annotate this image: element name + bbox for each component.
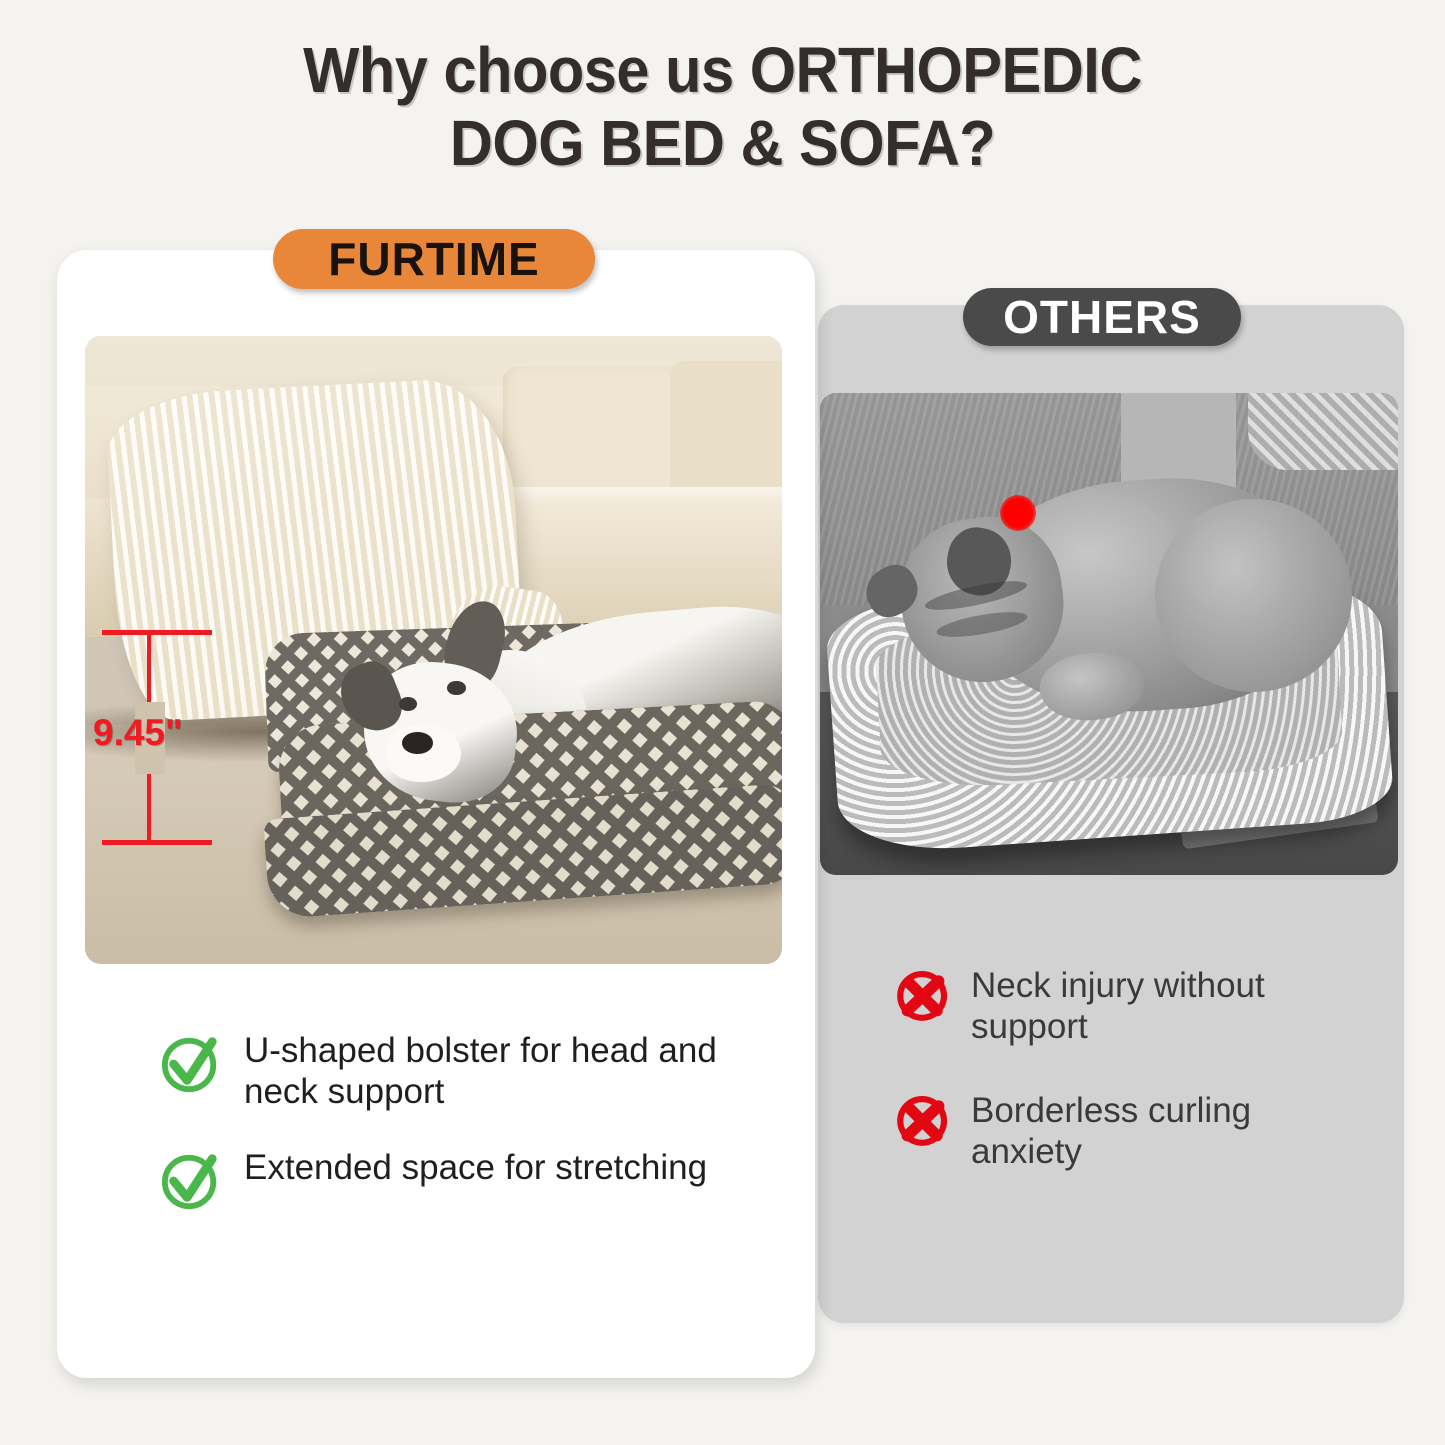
list-item-label: Neck injury without support bbox=[971, 965, 1365, 1048]
list-item: Borderless curling anxiety bbox=[895, 1090, 1365, 1173]
others-drawbacks-list: Neck injury without support Borderless c… bbox=[895, 965, 1365, 1214]
red-x-icon bbox=[895, 1092, 951, 1148]
list-item-label: Extended space for stretching bbox=[244, 1147, 707, 1188]
others-flat-dog-bed-photo bbox=[820, 393, 1398, 875]
list-item: Extended space for stretching bbox=[160, 1147, 780, 1211]
others-panel: Neck injury without support Borderless c… bbox=[818, 305, 1404, 1323]
others-badge: OTHERS bbox=[963, 288, 1241, 346]
list-item: Neck injury without support bbox=[895, 965, 1365, 1048]
neck-pain-marker-dot bbox=[1000, 495, 1036, 531]
page-title: Why choose us ORTHOPEDIC DOG BED & SOFA? bbox=[51, 34, 1395, 180]
red-x-icon bbox=[895, 967, 951, 1023]
list-item: U-shaped bolster for head and neck suppo… bbox=[160, 1030, 780, 1113]
furtime-badge: FURTIME bbox=[273, 229, 595, 289]
green-check-icon bbox=[160, 1032, 222, 1094]
green-check-icon bbox=[160, 1149, 222, 1211]
list-item-label: U-shaped bolster for head and neck suppo… bbox=[244, 1030, 780, 1113]
lace-curtain-detail bbox=[1248, 393, 1398, 470]
others-badge-label: OTHERS bbox=[1003, 290, 1201, 344]
bed-height-dimension: 9.45" bbox=[140, 630, 146, 845]
list-item-label: Borderless curling anxiety bbox=[971, 1090, 1365, 1173]
bed-height-value: 9.45" bbox=[93, 712, 183, 754]
furtime-badge-label: FURTIME bbox=[328, 232, 539, 286]
furtime-panel: U-shaped bolster for head and neck suppo… bbox=[57, 250, 815, 1378]
furtime-benefits-list: U-shaped bolster for head and neck suppo… bbox=[160, 1030, 780, 1245]
furtime-orthopedic-dog-bed-photo bbox=[85, 336, 782, 964]
page-title-line-1: Why choose us ORTHOPEDIC bbox=[51, 34, 1395, 107]
page-title-line-2: DOG BED & SOFA? bbox=[51, 107, 1395, 180]
